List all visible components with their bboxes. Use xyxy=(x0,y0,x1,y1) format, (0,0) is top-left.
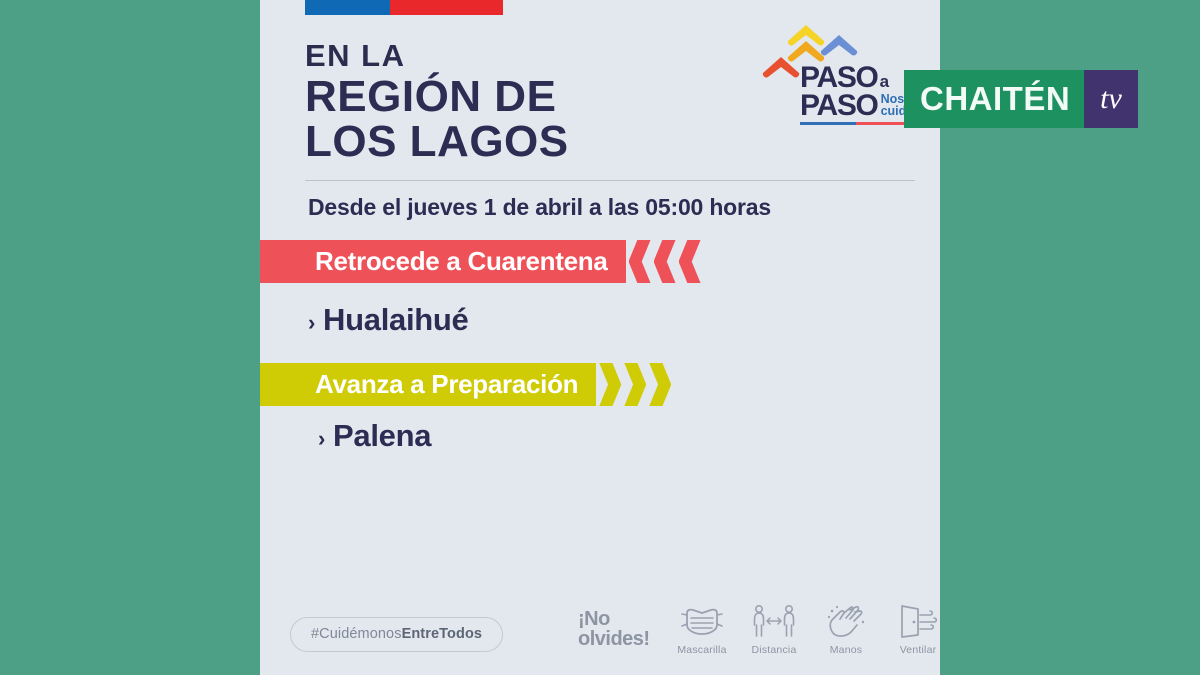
distancia-icon xyxy=(751,600,797,642)
prevention-item-manos: Manos xyxy=(816,600,876,656)
status-banner-avanza-label: Avanza a Preparación xyxy=(315,369,578,400)
chevron-up-blue-icon xyxy=(820,34,858,58)
chevron-left-icon xyxy=(654,240,676,283)
chile-flag-red xyxy=(390,0,503,15)
prevention-icon-row: Mascarilla Distancia xyxy=(672,600,948,656)
paso-word-2: PASO xyxy=(800,92,878,120)
comuna-name: Hualaihué xyxy=(323,302,468,338)
status-banner-retrocede-bar: Retrocede a Cuarentena xyxy=(260,240,626,283)
comuna-name: Palena xyxy=(333,418,431,454)
chevrons-left xyxy=(626,240,701,283)
caret-icon: › xyxy=(308,310,315,336)
prevention-item-ventilar: Ventilar xyxy=(888,600,948,656)
channel-tv-badge: tv xyxy=(1084,70,1138,128)
status-banner-retrocede-label: Retrocede a Cuarentena xyxy=(315,246,608,277)
list-item: › Palena xyxy=(318,418,431,454)
mascarilla-icon xyxy=(680,600,724,642)
chevron-up-red-icon xyxy=(762,56,800,80)
status-banner-avanza: Avanza a Preparación xyxy=(260,363,671,406)
paso-a-paso-logo: PASO a PASO Nos cuidamos xyxy=(762,24,912,129)
paso-small-a: a xyxy=(880,74,889,90)
list-item: › Hualaihué xyxy=(308,302,468,338)
manos-caption: Manos xyxy=(830,644,863,656)
chile-flag-blue xyxy=(305,0,390,15)
paso-underline xyxy=(800,122,912,125)
hashtag-badge: #CuidémonosEntreTodos xyxy=(290,617,503,652)
chevron-right-icon xyxy=(649,363,671,406)
mascarilla-caption: Mascarilla xyxy=(677,644,726,656)
status-banner-retrocede: Retrocede a Cuarentena xyxy=(260,240,701,283)
paso-word-1: PASO xyxy=(800,64,878,92)
channel-watermark: CHAITÉN tv xyxy=(904,70,1138,128)
chevron-left-icon xyxy=(679,240,701,283)
chevron-right-icon xyxy=(624,363,646,406)
ventilar-icon xyxy=(896,600,940,642)
no-olvides-line-1: ¡No xyxy=(578,609,650,629)
chevron-right-icon xyxy=(599,363,621,406)
hashtag-bold: EntreTodos xyxy=(402,626,482,642)
chevrons-right xyxy=(596,363,671,406)
chevron-left-icon xyxy=(629,240,651,283)
no-olvides-line-2: olvides! xyxy=(578,629,650,649)
gobierno-de-chile-logo xyxy=(305,0,503,15)
paso-underline-blue xyxy=(800,122,856,125)
prevention-item-distancia: Distancia xyxy=(744,600,804,656)
no-olvides-label: ¡No olvides! xyxy=(578,609,650,649)
manos-icon xyxy=(824,600,868,642)
ventilar-caption: Ventilar xyxy=(900,644,937,656)
status-banner-avanza-bar: Avanza a Preparación xyxy=(260,363,596,406)
effective-date-text: Desde el jueves 1 de abril a las 05:00 h… xyxy=(308,194,771,221)
prevention-item-mascarilla: Mascarilla xyxy=(672,600,732,656)
distancia-caption: Distancia xyxy=(752,644,797,656)
channel-name: CHAITÉN xyxy=(904,70,1084,128)
hashtag-prefix: #Cuidémonos xyxy=(311,626,402,642)
divider xyxy=(305,180,915,181)
caret-icon: › xyxy=(318,426,325,452)
